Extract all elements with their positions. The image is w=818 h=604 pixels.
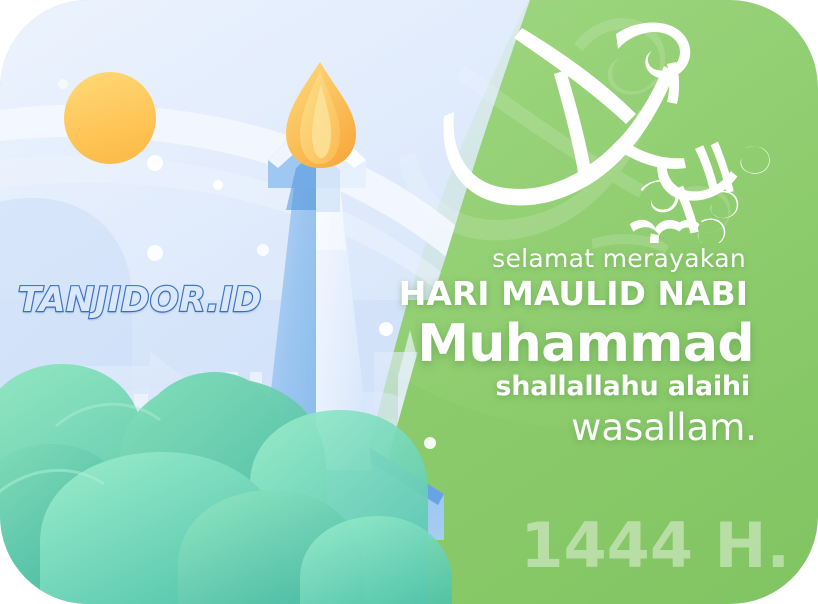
sun	[64, 72, 156, 164]
greeting-line-muhammad: Muhammad	[360, 318, 790, 371]
sparkle-dot	[147, 245, 163, 261]
greeting-line-shallallahu-alaihi: shallallahu alaihi	[360, 373, 790, 401]
sparkle-dot	[213, 180, 223, 190]
honorific-siin	[630, 220, 700, 236]
calligraphy-muhammad-saw	[440, 18, 800, 243]
honorific-miim-final	[698, 218, 726, 243]
brand-logo-text: TANJIDOR.ID	[18, 280, 262, 320]
brand-logo[interactable]: TANJIDOR.ID	[18, 276, 286, 324]
calligraphy-mim-head	[616, 22, 690, 78]
honorific-sad	[740, 146, 769, 173]
greeting-line-hari-maulid-nabi: HARI MAULID NABI	[360, 277, 790, 312]
greeting-message: selamat merayakan HARI MAULID NABI Muham…	[360, 246, 790, 448]
sparkle-dot	[147, 155, 163, 171]
greeting-card: TANJIDOR.ID selamat merayakan HARI MAULI…	[0, 0, 818, 604]
greeting-line-selamat: selamat merayakan	[360, 246, 790, 271]
sparkle-dot	[58, 79, 68, 89]
honorific-ain	[641, 180, 679, 212]
greeting-line-wasallam: wasallam.	[360, 409, 790, 448]
hijri-year-label: 1444 H.	[520, 509, 790, 582]
sparkle-dot	[257, 244, 269, 256]
